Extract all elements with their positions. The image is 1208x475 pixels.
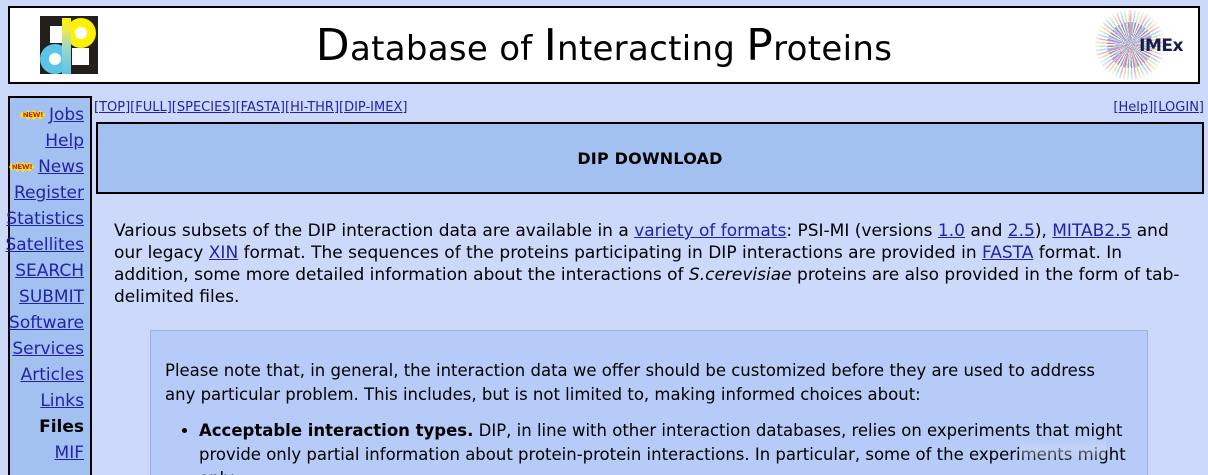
sidebar-item-label[interactable]: Software: [9, 313, 84, 333]
site-title-cell: Database of Interacting Proteins: [130, 20, 1078, 71]
sidebar-item-register[interactable]: Register: [12, 180, 84, 206]
sidebar-item-search[interactable]: SEARCH: [12, 258, 84, 284]
link-variety-of-formats[interactable]: variety of formats: [634, 221, 786, 241]
new-badge-label: NEW!: [9, 161, 35, 173]
title-part-1: atabase of: [350, 29, 544, 69]
nav-link-login[interactable]: [LOGIN]: [1153, 100, 1204, 115]
intro-text-3: and: [965, 221, 1008, 241]
new-badge-label: NEW!: [20, 109, 46, 121]
note-bullet-item: Acceptable interaction types. DIP, in li…: [199, 419, 1129, 475]
note-box: Please note that, in general, the intera…: [150, 330, 1148, 475]
intro-text-2: : PSI-MI (versions: [786, 221, 938, 241]
sidebar-item-label[interactable]: Statistics: [6, 209, 84, 229]
logo-white-square-bottom: [72, 48, 89, 65]
imex-logo-icon: IMEx: [1091, 10, 1185, 80]
sidebar-item-submit[interactable]: SUBMIT: [12, 284, 84, 310]
sidebar-item-label[interactable]: Services: [12, 339, 84, 359]
sidebar: NEW!JobsHelpNEW!NewsRegisterStatisticsSa…: [8, 96, 92, 475]
sidebar-item-label[interactable]: Help: [45, 131, 84, 151]
sidebar-item-help[interactable]: Help: [12, 128, 84, 154]
nav-link-dip-imex[interactable]: [DIP-IMEX]: [339, 100, 407, 115]
sidebar-item-statistics[interactable]: Statistics: [12, 206, 84, 232]
title-part-2: I: [544, 20, 557, 71]
title-part-3: nteracting: [557, 29, 746, 69]
dip-logo-icon: [34, 14, 106, 76]
page-title: Database of Interacting Proteins: [130, 20, 1078, 71]
new-badge-icon: NEW!: [20, 109, 46, 121]
sidebar-item-label[interactable]: News: [38, 157, 84, 177]
nav-links-right: [Help][LOGIN]: [1113, 100, 1204, 115]
note-bullet-list: Acceptable interaction types. DIP, in li…: [165, 419, 1129, 475]
title-part-5: roteins: [773, 29, 892, 69]
link-psimi-2-5[interactable]: 2.5: [1008, 221, 1035, 241]
sidebar-item-links[interactable]: Links: [12, 388, 84, 414]
sidebar-item-mif[interactable]: MIF: [12, 440, 84, 466]
link-mitab25[interactable]: MITAB2.5: [1052, 221, 1131, 241]
title-part-0: D: [316, 20, 350, 71]
sidebar-item-services[interactable]: Services: [12, 336, 84, 362]
sidebar-item-files[interactable]: Files: [12, 414, 84, 440]
sidebar-item-label[interactable]: Links: [40, 391, 84, 411]
imex-logo-cell: IMEx: [1078, 8, 1198, 82]
sidebar-item-jobs[interactable]: NEW!Jobs: [12, 102, 84, 128]
logo-gradient-bar: [62, 18, 71, 74]
note-paragraph: Please note that, in general, the intera…: [165, 359, 1129, 407]
link-xin[interactable]: XIN: [209, 243, 238, 263]
nav-link-top[interactable]: [TOP]: [94, 100, 130, 115]
nav-link-species[interactable]: [SPECIES]: [172, 100, 236, 115]
dip-logo-cell: [10, 8, 130, 82]
sidebar-item-label: Files: [39, 417, 84, 437]
link-fasta[interactable]: FASTA: [982, 243, 1033, 263]
sidebar-item-label[interactable]: Jobs: [49, 105, 84, 125]
species-name: S.cerevisiae: [689, 265, 792, 285]
sidebar-item-software[interactable]: Software: [12, 310, 84, 336]
sidebar-item-label[interactable]: SUBMIT: [19, 287, 84, 307]
sidebar-item-label[interactable]: Satellites: [6, 235, 84, 255]
nav-link-hi-thr[interactable]: [HI-THR]: [285, 100, 339, 115]
breadcrumb-nav: [TOP][FULL][SPECIES][FASTA][HI-THR][DIP-…: [92, 96, 1208, 118]
nav-link-help[interactable]: [Help]: [1113, 100, 1153, 115]
imex-label: IMEx: [1139, 36, 1183, 56]
nav-links-left: [TOP][FULL][SPECIES][FASTA][HI-THR][DIP-…: [94, 100, 407, 115]
nav-link-fasta[interactable]: [FASTA]: [236, 100, 285, 115]
sidebar-item-label[interactable]: Articles: [21, 365, 84, 385]
intro-text-6: format. The sequences of the proteins pa…: [238, 243, 982, 263]
intro-text-4: ),: [1035, 221, 1052, 241]
main-content: DIP DOWNLOAD Various subsets of the DIP …: [92, 118, 1208, 475]
sidebar-item-news[interactable]: NEW!News: [12, 154, 84, 180]
title-part-4: P: [746, 20, 773, 71]
download-header-box: DIP DOWNLOAD: [96, 122, 1204, 194]
sidebar-item-label[interactable]: SEARCH: [15, 261, 84, 281]
download-header-title: DIP DOWNLOAD: [577, 149, 722, 168]
intro-text-1: Various subsets of the DIP interaction d…: [114, 221, 634, 241]
sidebar-item-satellites[interactable]: Satellites: [12, 232, 84, 258]
intro-paragraph: Various subsets of the DIP interaction d…: [114, 220, 1198, 308]
link-psimi-1-0[interactable]: 1.0: [938, 221, 965, 241]
note-bullet-title: Acceptable interaction types.: [199, 421, 473, 440]
sidebar-item-label[interactable]: MIF: [55, 443, 84, 463]
sidebar-item-articles[interactable]: Articles: [12, 362, 84, 388]
sidebar-item-label[interactable]: Register: [14, 183, 84, 203]
site-banner: Database of Interacting Proteins IMEx: [8, 6, 1200, 84]
nav-link-full[interactable]: [FULL]: [130, 100, 172, 115]
new-badge-icon: NEW!: [9, 161, 35, 173]
